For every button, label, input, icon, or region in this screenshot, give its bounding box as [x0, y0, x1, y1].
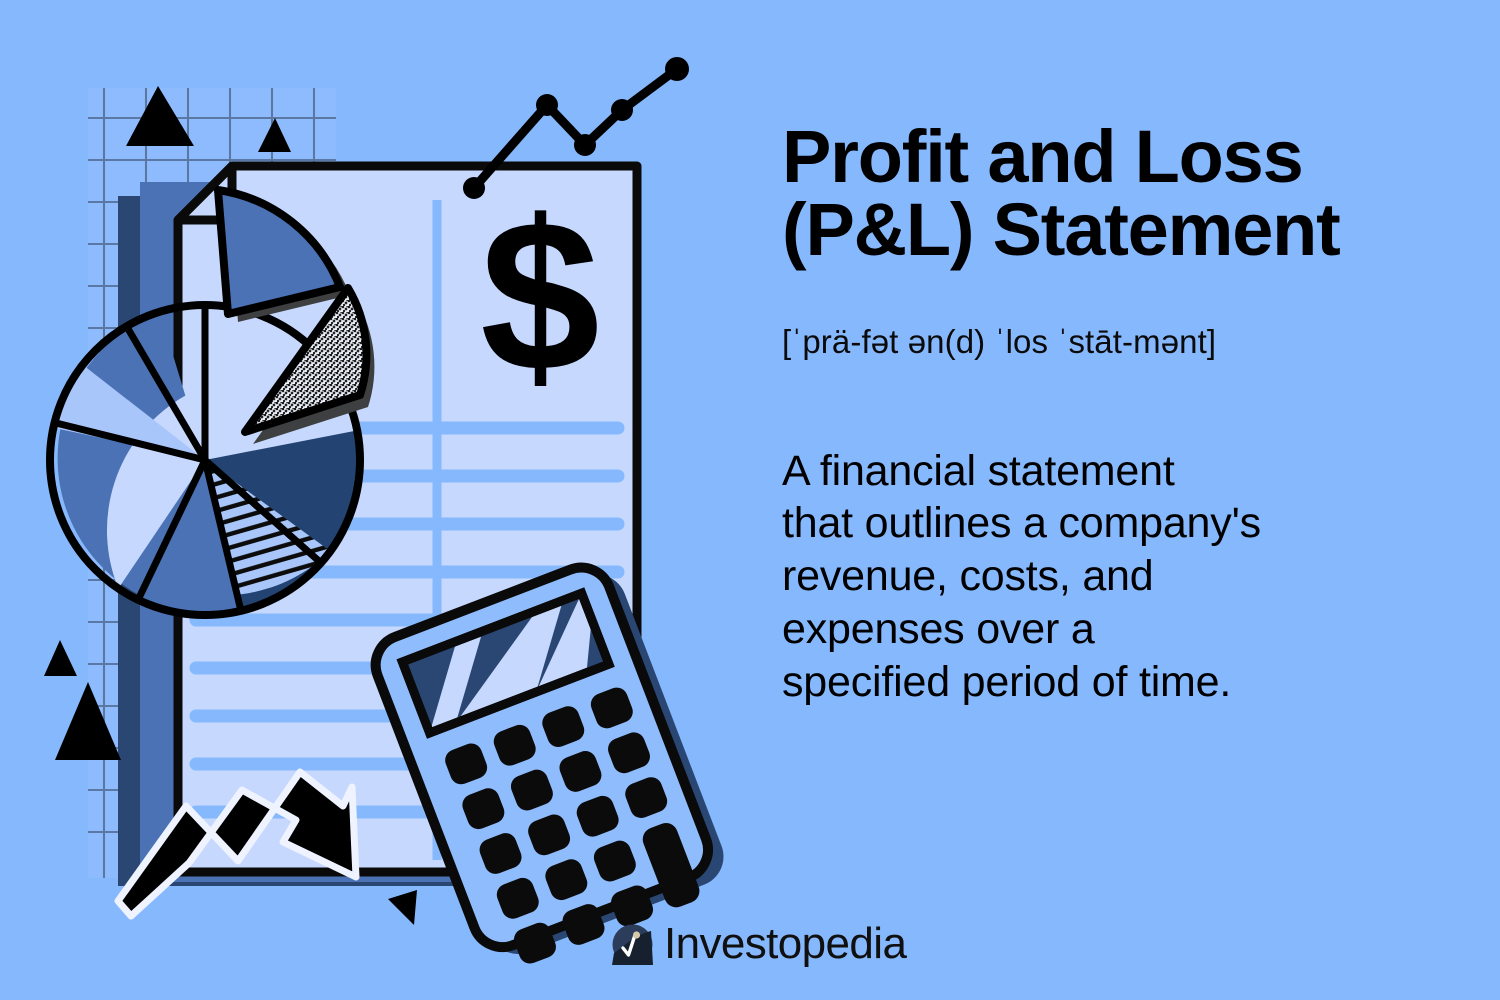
illustration-area: $	[0, 0, 770, 1000]
phonetic-transcription: [ˈprä-fət ən(d) ˈlos ˈstāt-mənt]	[782, 323, 1472, 361]
definition-text: A financial statement that outlines a co…	[782, 445, 1472, 709]
investopedia-i-circle-icon	[612, 924, 653, 965]
infographic-canvas: $	[0, 0, 1500, 1000]
headline-block: Profit and Loss (P&L) Statement [ˈprä-fə…	[782, 120, 1472, 709]
dollar-sign-glyph: $	[480, 175, 600, 416]
investopedia-wordmark: Investopedia	[664, 922, 906, 966]
investopedia-logo[interactable]: Investopedia	[612, 922, 906, 966]
page-title: Profit and Loss (P&L) Statement	[782, 120, 1472, 267]
